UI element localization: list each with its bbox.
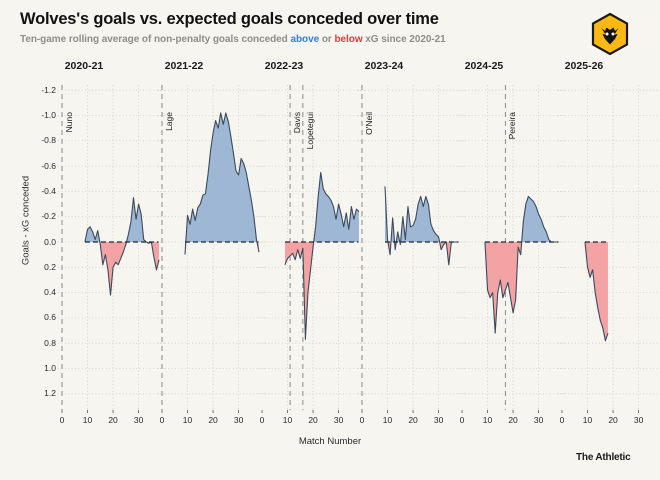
x-tick-label: 10 xyxy=(380,415,396,425)
x-tick-label: 30 xyxy=(631,415,647,425)
panel-title-2020-21: 2020-21 xyxy=(44,60,124,72)
x-tick-label: 20 xyxy=(105,415,121,425)
x-tick-label: 30 xyxy=(131,415,147,425)
x-tick-label: 20 xyxy=(605,415,621,425)
x-tick-label: 10 xyxy=(280,415,296,425)
x-tick-label: 0 xyxy=(154,415,170,425)
x-tick-label: 10 xyxy=(180,415,196,425)
x-tick-label: 0 xyxy=(454,415,470,425)
panel-title-2023-24: 2023-24 xyxy=(344,60,424,72)
panel-title-2022-23: 2022-23 xyxy=(244,60,324,72)
manager-label: Pereira xyxy=(507,112,517,139)
x-tick-label: 10 xyxy=(480,415,496,425)
x-tick-label: 20 xyxy=(305,415,321,425)
panel-title-2025-26: 2025-26 xyxy=(544,60,624,72)
manager-label: Davis xyxy=(292,112,302,133)
manager-label: Nuno xyxy=(64,112,74,132)
x-tick-label: 30 xyxy=(531,415,547,425)
plot-area xyxy=(0,0,660,480)
x-tick-label: 10 xyxy=(580,415,596,425)
x-tick-label: 0 xyxy=(554,415,570,425)
manager-label: O'Neil xyxy=(364,112,374,135)
x-tick-label: 20 xyxy=(205,415,221,425)
manager-label: Lage xyxy=(164,112,174,131)
x-tick-label: 0 xyxy=(54,415,70,425)
x-tick-label: 30 xyxy=(231,415,247,425)
x-tick-label: 20 xyxy=(505,415,521,425)
x-tick-label: 30 xyxy=(431,415,447,425)
x-tick-label: 20 xyxy=(405,415,421,425)
x-tick-label: 10 xyxy=(80,415,96,425)
chart-root: Wolves's goals vs. expected goals conced… xyxy=(0,0,660,480)
panel-title-2021-22: 2021-22 xyxy=(144,60,224,72)
x-tick-label: 30 xyxy=(331,415,347,425)
x-tick-label: 0 xyxy=(354,415,370,425)
x-tick-label: 0 xyxy=(254,415,270,425)
panel-title-2024-25: 2024-25 xyxy=(444,60,524,72)
manager-label: Lopetegui xyxy=(305,112,315,149)
